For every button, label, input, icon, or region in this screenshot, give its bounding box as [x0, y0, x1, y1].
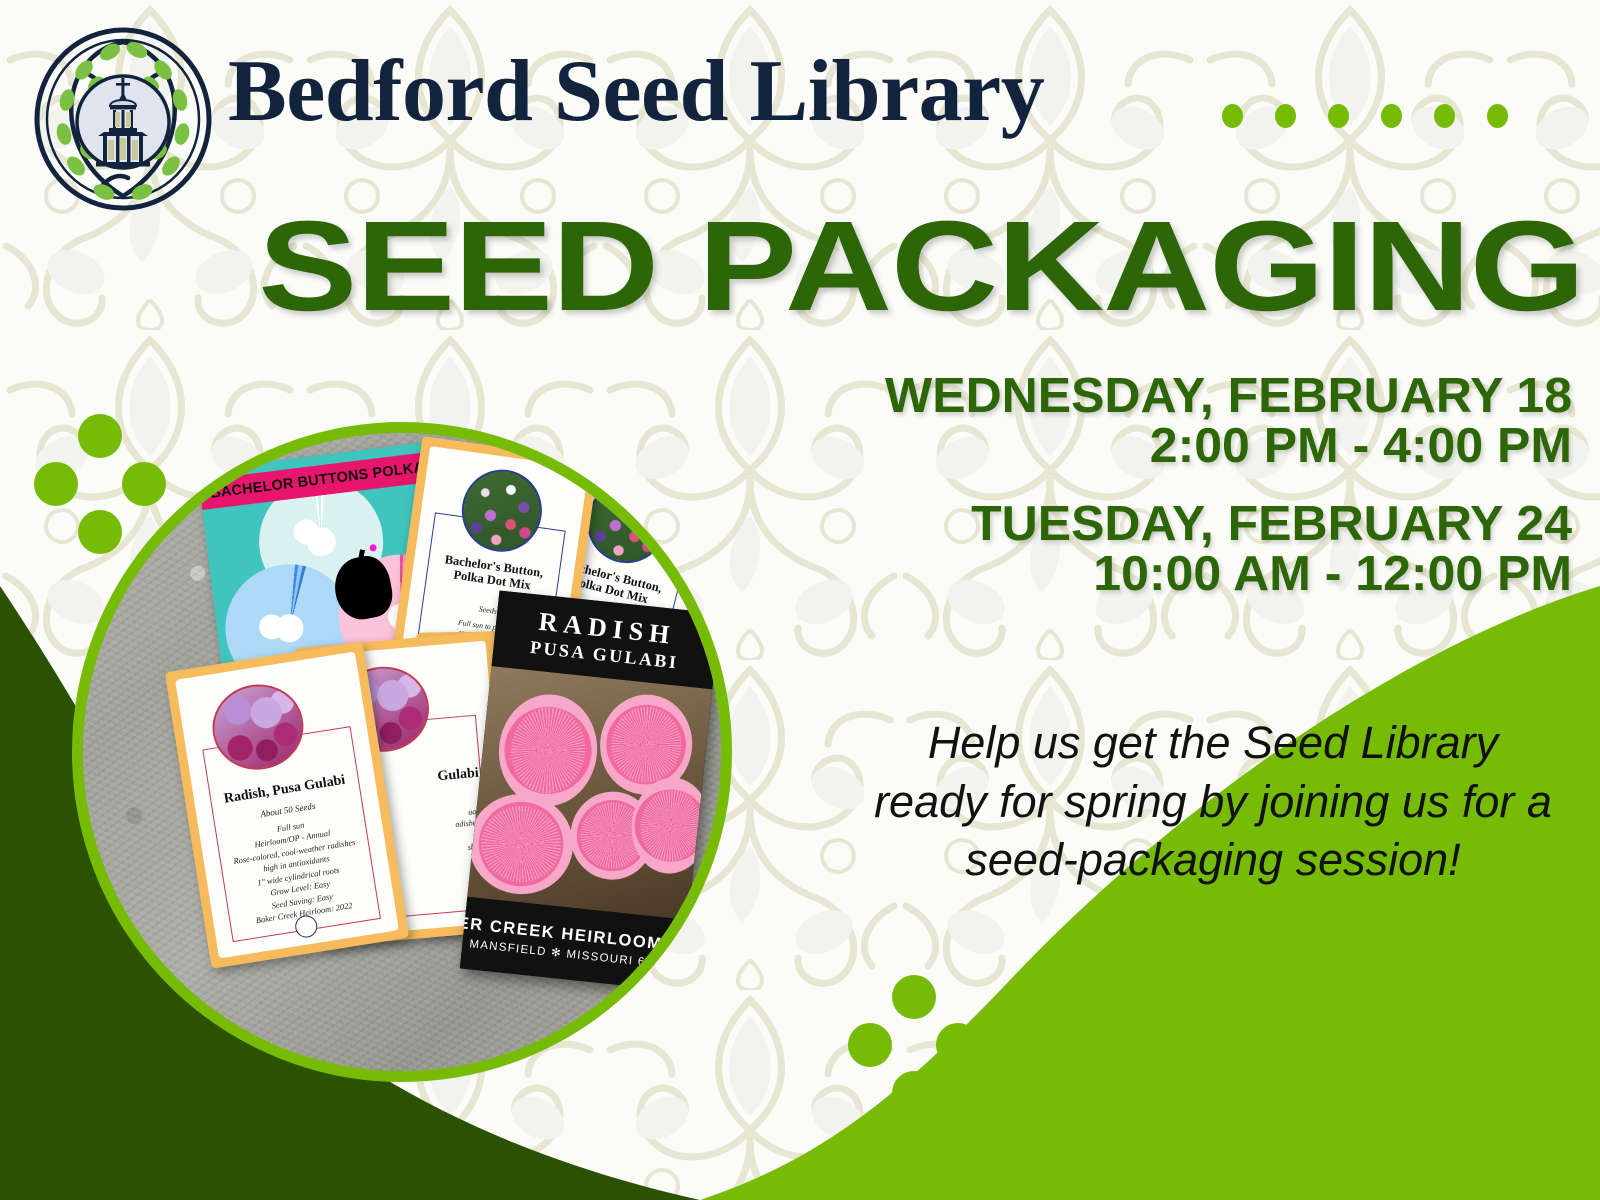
header-dot	[1487, 104, 1508, 128]
flyer-canvas: Bedford Seed Library SEED PACKAGING WEDN…	[0, 0, 1600, 1200]
cluster-dot	[848, 1023, 892, 1067]
radish-slice	[467, 789, 578, 899]
radish-photo	[467, 666, 712, 920]
radish-slice	[493, 690, 602, 812]
session-date: WEDNESDAY, FEBRUARY 18	[654, 372, 1572, 422]
header-dot-row	[1222, 104, 1508, 128]
header-dot	[1434, 104, 1455, 128]
seed-packets-photo: BACHELOR BUTTONS POLKA D Bachelor's Butt…	[72, 422, 732, 1082]
header-dot	[1275, 104, 1296, 128]
cluster-dot	[892, 975, 936, 1019]
cluster-dot	[936, 1023, 980, 1067]
session-time: 10:00 AM - 12:00 PM	[654, 550, 1572, 600]
header-dot	[1328, 104, 1349, 128]
session-block: WEDNESDAY, FEBRUARY 18 2:00 PM - 4:00 PM	[672, 372, 1572, 472]
seed-packet-baker-creek-radish: RADISH PUSA GULABI BAKER CREEK HEIRLOOM …	[460, 590, 721, 991]
cluster-dot	[892, 1071, 936, 1115]
event-description: Help us get the Seed Library ready for s…	[868, 714, 1558, 890]
session-block: TUESDAY, FEBRUARY 24 10:00 AM - 12:00 PM	[672, 500, 1572, 600]
session-dates: WEDNESDAY, FEBRUARY 18 2:00 PM - 4:00 PM…	[672, 372, 1572, 600]
header-dot	[1222, 104, 1243, 128]
cluster-dot	[122, 462, 166, 506]
bedford-library-logo-icon	[32, 26, 214, 212]
cluster-dot	[78, 414, 122, 458]
session-date: TUESDAY, FEBRUARY 24	[654, 500, 1572, 550]
dot-cluster-bottom	[848, 975, 980, 1115]
cluster-dot	[34, 462, 78, 506]
page-title: SEED PACKAGING	[0, 206, 1584, 328]
header-dot	[1381, 104, 1402, 128]
organization-title: Bedford Seed Library	[228, 48, 1044, 136]
packet-label: Radish, Pusa Gulabi About 50 Seeds Full …	[175, 652, 399, 959]
cluster-dot	[78, 510, 122, 554]
session-time: 2:00 PM - 4:00 PM	[654, 422, 1572, 472]
flyer-header: Bedford Seed Library	[0, 0, 1600, 200]
dot-cluster-left	[34, 414, 166, 554]
